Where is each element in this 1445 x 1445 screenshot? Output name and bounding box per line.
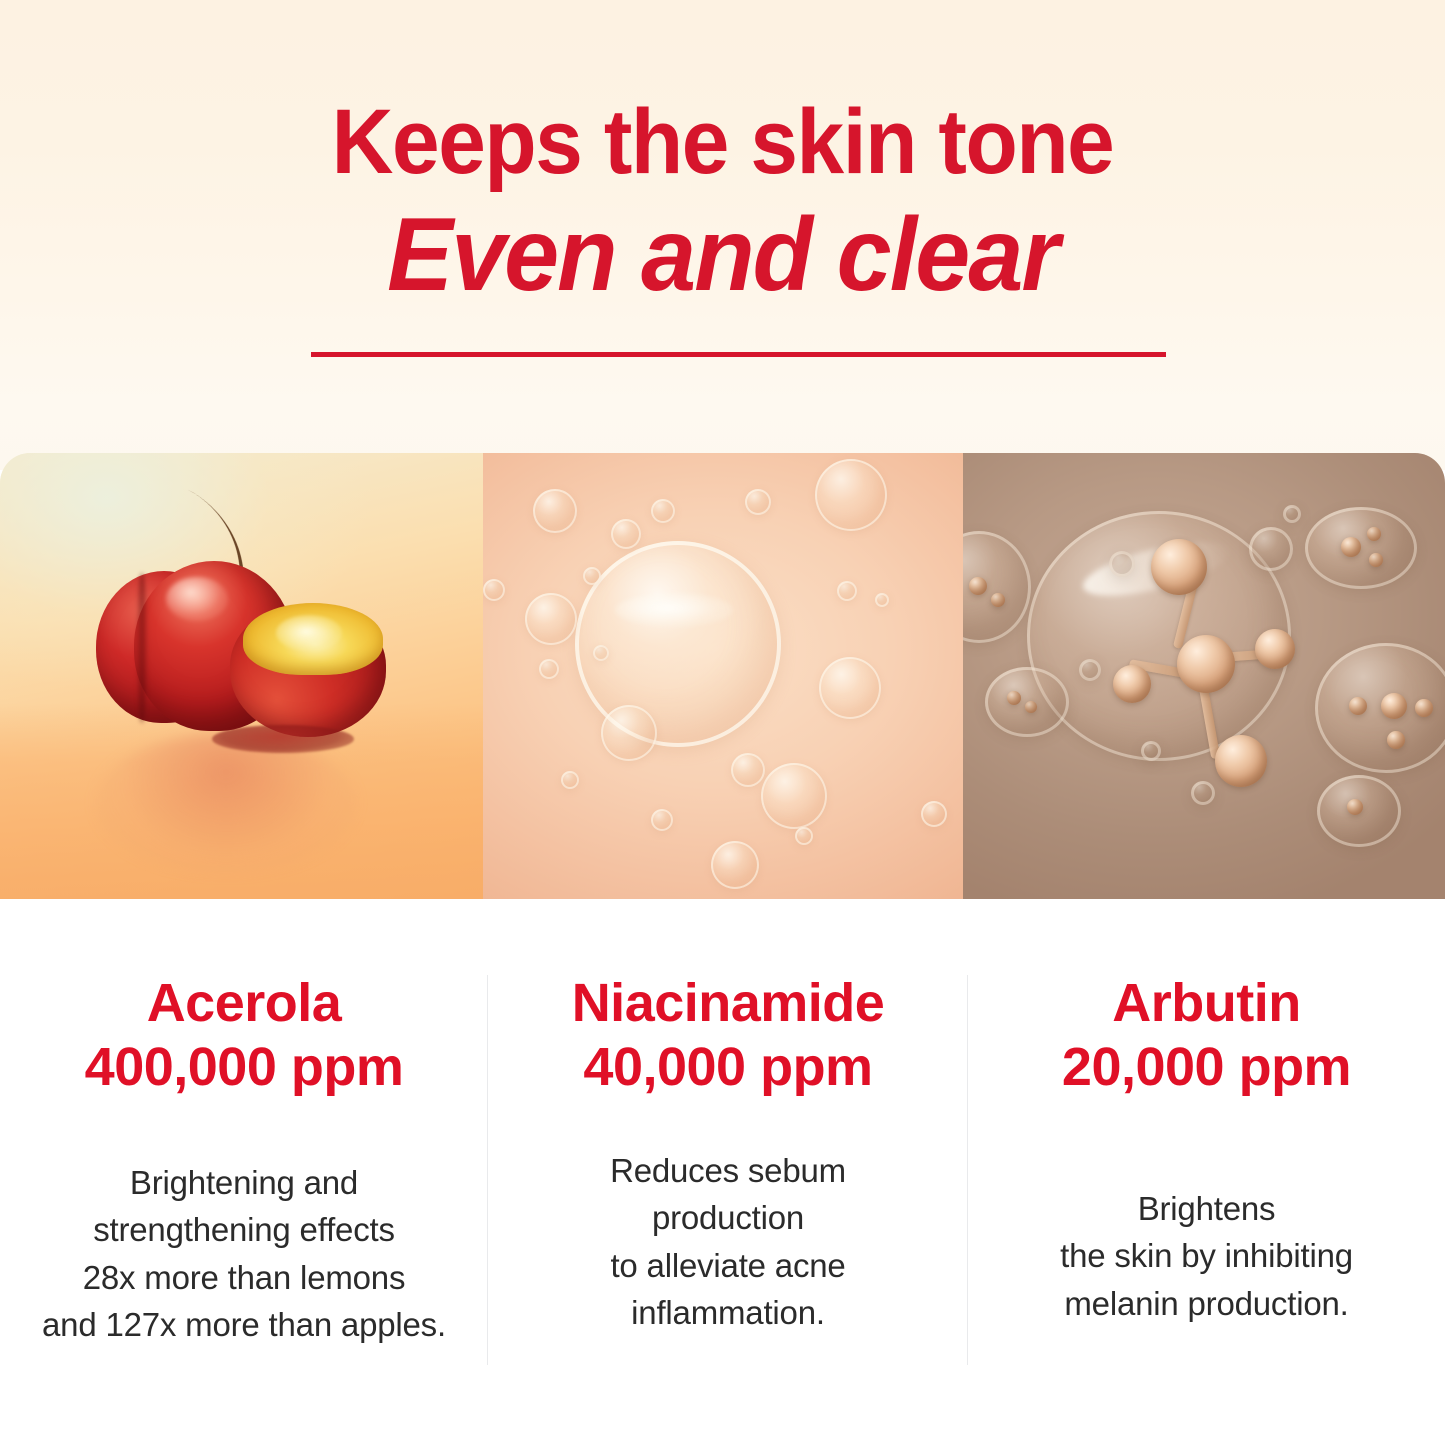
ingredient-column-arbutin: Arbutin 20,000 ppm Brightens the skin by… bbox=[968, 899, 1445, 1445]
bubble-small-10 bbox=[593, 645, 609, 661]
molecule-atom-bottom bbox=[1215, 735, 1267, 787]
bubble-large-highlight bbox=[615, 593, 733, 627]
bubble-small-14 bbox=[731, 753, 765, 787]
molecule-bubble-small-5 bbox=[1191, 781, 1215, 805]
molecule-atom-right bbox=[1255, 629, 1295, 669]
bubble-small-15 bbox=[651, 809, 673, 831]
cherry-groove bbox=[136, 573, 148, 723]
molecule-mini-atom-2 bbox=[1367, 527, 1381, 541]
headline-primary: Keeps the skin tone bbox=[51, 0, 1395, 190]
molecule-mini-atom-4 bbox=[1381, 693, 1407, 719]
bubble-small-11 bbox=[601, 705, 657, 761]
bubble-small-9 bbox=[539, 659, 559, 679]
cherry-juice-pool bbox=[212, 725, 354, 753]
molecule-bubble-small-6 bbox=[1283, 505, 1301, 523]
headline-section: Keeps the skin tone Even and clear bbox=[0, 0, 1445, 470]
molecule-mini-atom-12 bbox=[1347, 799, 1363, 815]
bubble-small-13 bbox=[761, 763, 827, 829]
bubble-small-12 bbox=[819, 657, 881, 719]
cherry-flesh-highlight bbox=[276, 615, 342, 651]
ingredient-column-niacinamide: Niacinamide 40,000 ppm Reduces sebum pro… bbox=[488, 899, 968, 1445]
bubble-small-4 bbox=[745, 489, 771, 515]
ingredient-amount-niacinamide: 40,000 ppm bbox=[510, 1032, 946, 1096]
headline-block: Keeps the skin tone Even and clear bbox=[0, 0, 1445, 308]
molecule-bubble-top-right bbox=[1305, 507, 1417, 589]
molecule-atom-top bbox=[1151, 539, 1207, 595]
bubble-small-2 bbox=[611, 519, 641, 549]
cherry-highlight bbox=[166, 577, 228, 621]
molecule-mini-atom-9 bbox=[991, 593, 1005, 607]
molecule-mini-atom-5 bbox=[1349, 697, 1367, 715]
molecule-mini-atom-11 bbox=[1025, 701, 1037, 713]
bubble-small-21 bbox=[795, 827, 813, 845]
bubble-small-3 bbox=[651, 499, 675, 523]
ingredient-name-acerola: Acerola bbox=[22, 899, 466, 1032]
bubble-small-19 bbox=[875, 593, 889, 607]
bubble-small-6 bbox=[583, 567, 601, 585]
headline-underline-rule bbox=[311, 352, 1166, 357]
cherry-reflection bbox=[96, 733, 356, 873]
molecule-bubble-photo bbox=[963, 453, 1445, 899]
molecule-atom-core bbox=[1177, 635, 1235, 693]
molecule-atom-left bbox=[1113, 665, 1151, 703]
acerola-cherry-photo bbox=[0, 453, 483, 899]
molecule-bubble-small-4 bbox=[1141, 741, 1161, 761]
bubble-small-18 bbox=[837, 581, 857, 601]
bubble-small-5 bbox=[815, 459, 887, 531]
bubble-small-17 bbox=[561, 771, 579, 789]
ingredient-column-acerola: Acerola 400,000 ppm Brightening and stre… bbox=[0, 899, 488, 1445]
ingredient-name-arbutin: Arbutin bbox=[986, 899, 1427, 1032]
ingredient-image-band bbox=[0, 453, 1445, 899]
column-divider-1 bbox=[487, 975, 488, 1365]
ingredient-details-section: Acerola 400,000 ppm Brightening and stre… bbox=[0, 899, 1445, 1445]
ingredient-amount-acerola: 400,000 ppm bbox=[22, 1032, 466, 1096]
ingredient-description-niacinamide: Reduces sebum production to alleviate ac… bbox=[510, 1097, 946, 1337]
ingredient-description-arbutin: Brightens the skin by inhibiting melanin… bbox=[986, 1097, 1427, 1328]
column-divider-2 bbox=[967, 975, 968, 1365]
bubble-small-8 bbox=[483, 579, 505, 601]
bubble-small-20 bbox=[921, 801, 947, 827]
molecule-mini-atom-6 bbox=[1415, 699, 1433, 717]
molecule-mini-atom-7 bbox=[1387, 731, 1405, 749]
product-infographic: Keeps the skin tone Even and clear bbox=[0, 0, 1445, 1445]
bubble-small-7 bbox=[525, 593, 577, 645]
molecule-bubble-small-1 bbox=[1249, 527, 1293, 571]
molecule-mini-atom-3 bbox=[1369, 553, 1383, 567]
bubble-small-1 bbox=[533, 489, 577, 533]
molecule-mini-atom-8 bbox=[969, 577, 987, 595]
serum-bubble-photo bbox=[483, 453, 963, 899]
bubble-small-16 bbox=[711, 841, 759, 889]
molecule-bubble-small-2 bbox=[1109, 551, 1135, 577]
molecule-bubble-small-3 bbox=[1079, 659, 1101, 681]
molecule-mini-atom-10 bbox=[1007, 691, 1021, 705]
ingredient-name-niacinamide: Niacinamide bbox=[510, 899, 946, 1032]
molecule-mini-atom-1 bbox=[1341, 537, 1361, 557]
headline-emphasis: Even and clear bbox=[36, 190, 1409, 308]
ingredient-amount-arbutin: 20,000 ppm bbox=[986, 1032, 1427, 1096]
ingredient-description-acerola: Brightening and strengthening effects 28… bbox=[22, 1097, 466, 1349]
